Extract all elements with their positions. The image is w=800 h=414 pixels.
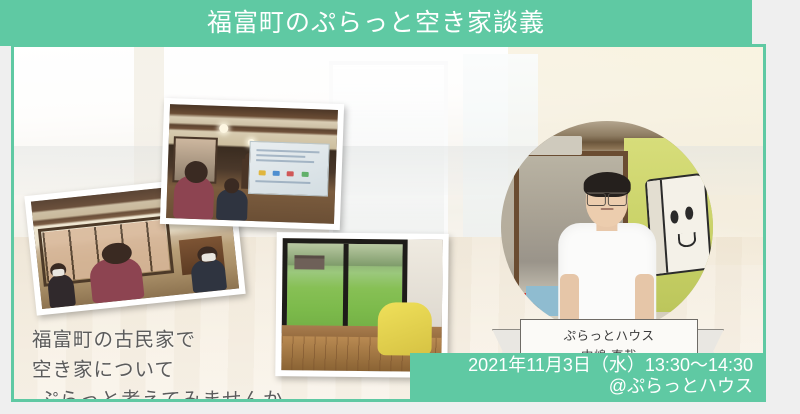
glasses-icon (587, 192, 627, 204)
screen-chip (259, 171, 266, 176)
speaker-portrait-circle (501, 121, 713, 333)
person-figure (216, 189, 247, 221)
page-title: 福富町のぷらっと空き家談義 (207, 11, 545, 36)
mascot-eye-icon (684, 206, 692, 220)
projection-screen (248, 141, 330, 196)
tagline-line-3: ぷらっと考えてみませんか (32, 385, 283, 402)
glasses-lens-right (608, 193, 627, 206)
event-venue: @ぷらっとハウス (609, 376, 753, 397)
event-flyer: 福富町のぷらっと空き家談義 (0, 0, 800, 414)
screen-chip (273, 171, 280, 176)
photo-presentation-image (166, 104, 338, 224)
face-mask (202, 253, 217, 262)
red-sign (512, 293, 527, 310)
ricefield-scene (281, 238, 442, 372)
glasses-lens-left (587, 193, 606, 206)
tagline-line-2: 空き家について (32, 355, 283, 385)
schedule-block: 2021年11月3日（水）13:30〜14:30 @ぷらっとハウス (410, 353, 763, 399)
content-frame: ぷらっとハウス 中嶋 直哉 福富町の古民家で 空き家について ぷらっと考えてみま… (11, 44, 766, 402)
photo-ricefield-image (281, 238, 442, 372)
screen-text-line (255, 180, 310, 184)
face-mask (52, 269, 64, 277)
speaker-organization: ぷらっとハウス (563, 325, 654, 344)
window-mullion (343, 244, 349, 329)
mascot-eye-icon (670, 210, 678, 224)
event-date-time: 2021年11月3日（水）13:30〜14:30 (468, 355, 753, 376)
mascot-mouth-icon (677, 232, 696, 248)
person-head (184, 161, 208, 183)
tagline-line-1: 福富町の古民家で (32, 325, 283, 355)
title-banner: 福富町のぷらっと空き家談義 (0, 0, 752, 46)
person-figure (190, 257, 227, 293)
speaker-mouth (601, 208, 614, 210)
screen-text-line (256, 149, 319, 153)
air-conditioner (526, 136, 581, 155)
photo-presentation (160, 98, 344, 230)
yellow-chair (377, 303, 432, 356)
tagline: 福富町の古民家で 空き家について ぷらっと考えてみませんか (32, 325, 283, 402)
farm-building (294, 255, 324, 269)
photo-speaker-portrait (501, 121, 713, 333)
screen-text-line (256, 154, 305, 158)
screen-chip (301, 172, 308, 177)
screen-chip (287, 172, 294, 177)
person-figure (47, 273, 76, 308)
screen-text-line (256, 159, 314, 163)
